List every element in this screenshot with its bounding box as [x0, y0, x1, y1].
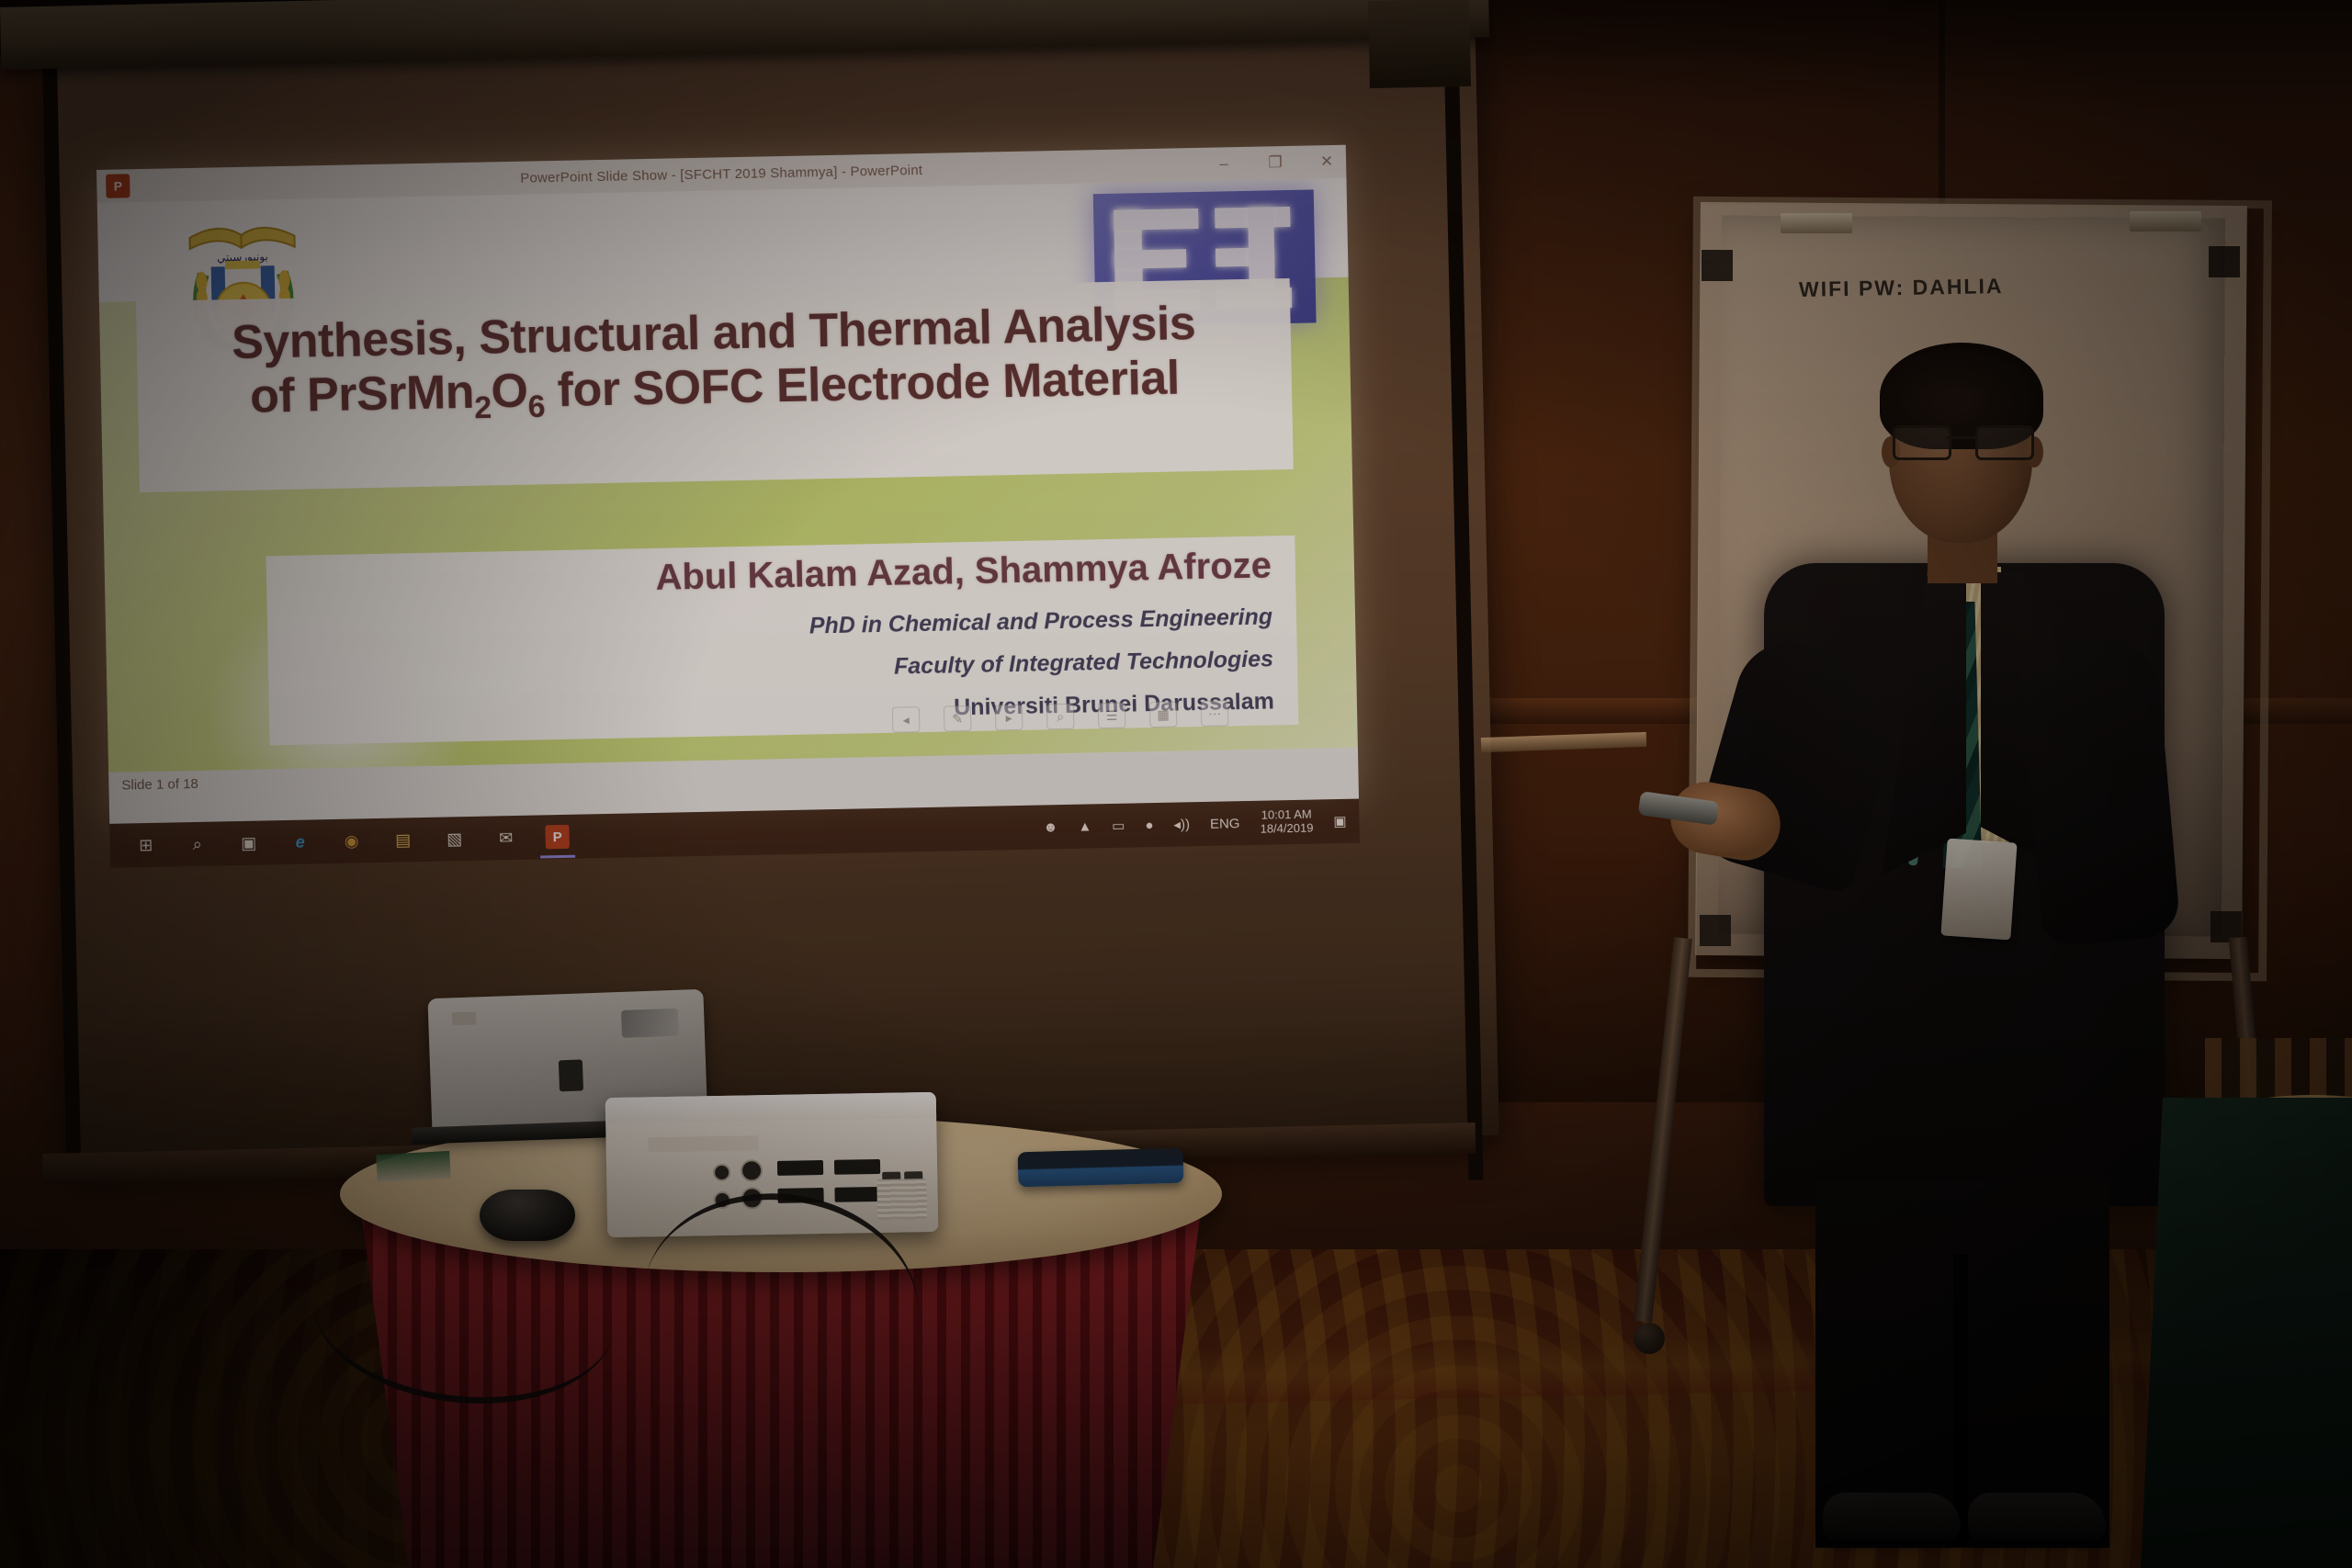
- task-view-icon[interactable]: ▣: [236, 831, 261, 856]
- projector-hdmi-port: [834, 1187, 880, 1202]
- glasses-icon: [1893, 425, 2030, 457]
- microsoft-store-icon[interactable]: ▧: [442, 827, 467, 852]
- all-slides-button[interactable]: ☰: [1098, 703, 1126, 729]
- flipchart-clip-left[interactable]: [1781, 213, 1852, 233]
- slide-title-line-2-mid: O: [491, 364, 528, 418]
- pencil-case: [1018, 1148, 1184, 1188]
- powerpoint-taskbar-icon[interactable]: P: [545, 825, 570, 850]
- flipchart-clip-right[interactable]: [2130, 211, 2201, 231]
- booklet-on-table: [376, 1151, 450, 1182]
- projected-image: P PowerPoint Slide Show - [SFCHT 2019 Sh…: [96, 145, 1360, 868]
- projector-rca-1: [741, 1159, 763, 1181]
- powerpoint-icon: P: [106, 174, 130, 198]
- close-button[interactable]: ✕: [1315, 152, 1339, 172]
- system-tray: ☻ ▲ ▭ ● ◂)) ENG 10:01 AM 18/4/2019 ▣: [1043, 807, 1347, 840]
- glasses-bridge: [1946, 436, 1975, 439]
- affiliation-degree: PhD in Chemical and Process Engineering: [809, 604, 1273, 639]
- projector-top-panel: [605, 1092, 936, 1123]
- projector-audio-jack-1: [713, 1164, 730, 1181]
- slide-title-line-2-pre: of PrSrMn: [249, 366, 474, 423]
- zoom-slide-button[interactable]: ⌕: [1046, 704, 1075, 730]
- slide-title-line-2-post: for SOFC Electrode Material: [544, 351, 1180, 417]
- previous-slide-button[interactable]: ◂: [892, 706, 921, 733]
- search-icon[interactable]: ⌕: [185, 832, 209, 857]
- glasses-lens-right: [1975, 425, 2034, 460]
- whiteboard-wifi-note: WIFI PW: DAHLIA: [1799, 274, 2004, 302]
- flipchart-corner-top-right: [2209, 246, 2240, 277]
- slide-counter: Slide 1 of 18: [121, 776, 198, 794]
- flipchart-corner-bottom-left: [1700, 915, 1731, 946]
- slide-title-subscript-6: 6: [527, 389, 545, 423]
- author-names: Abul Kalam Azad, Shammya Afroze: [655, 545, 1272, 598]
- edge-browser-icon[interactable]: e: [288, 829, 312, 854]
- window-controls: – ❐ ✕: [1212, 145, 1340, 181]
- minimize-button[interactable]: –: [1212, 154, 1236, 174]
- taskbar-icon-group: ⊞ ⌕ ▣ e ◉ ▤ ▧ ✉ P: [134, 825, 570, 858]
- battery-icon[interactable]: ▭: [1112, 818, 1125, 834]
- presenter-view-button[interactable]: ▦: [1149, 702, 1178, 728]
- pen-tool-button[interactable]: ✎: [944, 705, 972, 732]
- presenter-arm-right: [2018, 633, 2181, 947]
- projector-vent: [876, 1179, 927, 1220]
- presenter-leg-separation: [1953, 1254, 1968, 1548]
- presenter-shoe-left: [1823, 1493, 1961, 1540]
- show-hidden-icons-chevron[interactable]: ▲: [1078, 818, 1091, 834]
- next-slide-button[interactable]: ▸: [995, 705, 1023, 731]
- presenter: [1727, 326, 2205, 1520]
- start-button[interactable]: ⊞: [134, 833, 159, 858]
- slide-canvas: بونيورسيتي: [97, 178, 1358, 773]
- network-icon[interactable]: ●: [1145, 818, 1153, 833]
- projector-label: [648, 1135, 758, 1152]
- conference-room-photo: P PowerPoint Slide Show - [SFCHT 2019 Sh…: [0, 0, 2352, 1568]
- flipchart-corner-top-left: [1702, 250, 1733, 281]
- laptop-badge: [452, 1011, 476, 1025]
- laptop-logo: [621, 1009, 679, 1038]
- mail-icon[interactable]: ✉: [493, 826, 518, 851]
- notifications-icon[interactable]: ▣: [1333, 813, 1347, 829]
- people-icon[interactable]: ☻: [1043, 819, 1057, 835]
- affiliation-faculty: Faculty of Integrated Technologies: [894, 646, 1274, 680]
- restore-button[interactable]: ❐: [1263, 153, 1287, 173]
- chrome-browser-icon[interactable]: ◉: [339, 829, 364, 853]
- projector-vga-port-1: [777, 1160, 823, 1176]
- glasses-lens-left: [1893, 425, 1951, 460]
- slide-title-subscript-2: 2: [474, 390, 492, 425]
- more-options-button[interactable]: ⋯: [1201, 700, 1229, 727]
- volume-icon[interactable]: ◂)): [1173, 816, 1190, 832]
- laptop-rear-port-cover: [559, 1059, 583, 1091]
- powerpoint-window: P PowerPoint Slide Show - [SFCHT 2019 Sh…: [96, 145, 1359, 824]
- file-explorer-icon[interactable]: ▤: [390, 828, 415, 852]
- page-title: Synthesis, Structural and Thermal Analys…: [136, 295, 1292, 433]
- clock-date: 18/4/2019: [1260, 822, 1313, 837]
- screen-roller-end-cap: [1368, 0, 1471, 88]
- language-indicator[interactable]: ENG: [1210, 816, 1240, 832]
- presenter-name-badge: [1940, 838, 2017, 940]
- window-title: PowerPoint Slide Show - [SFCHT 2019 Sham…: [520, 162, 922, 186]
- slide-title-panel: Synthesis, Structural and Thermal Analys…: [136, 278, 1294, 492]
- easel-wheel-left: [1634, 1323, 1665, 1354]
- presenter-shoe-right: [1968, 1493, 2106, 1540]
- projector-vga-port-3: [834, 1159, 880, 1175]
- side-table-cloth: [2141, 1098, 2352, 1568]
- clock[interactable]: 10:01 AM 18/4/2019: [1260, 808, 1313, 837]
